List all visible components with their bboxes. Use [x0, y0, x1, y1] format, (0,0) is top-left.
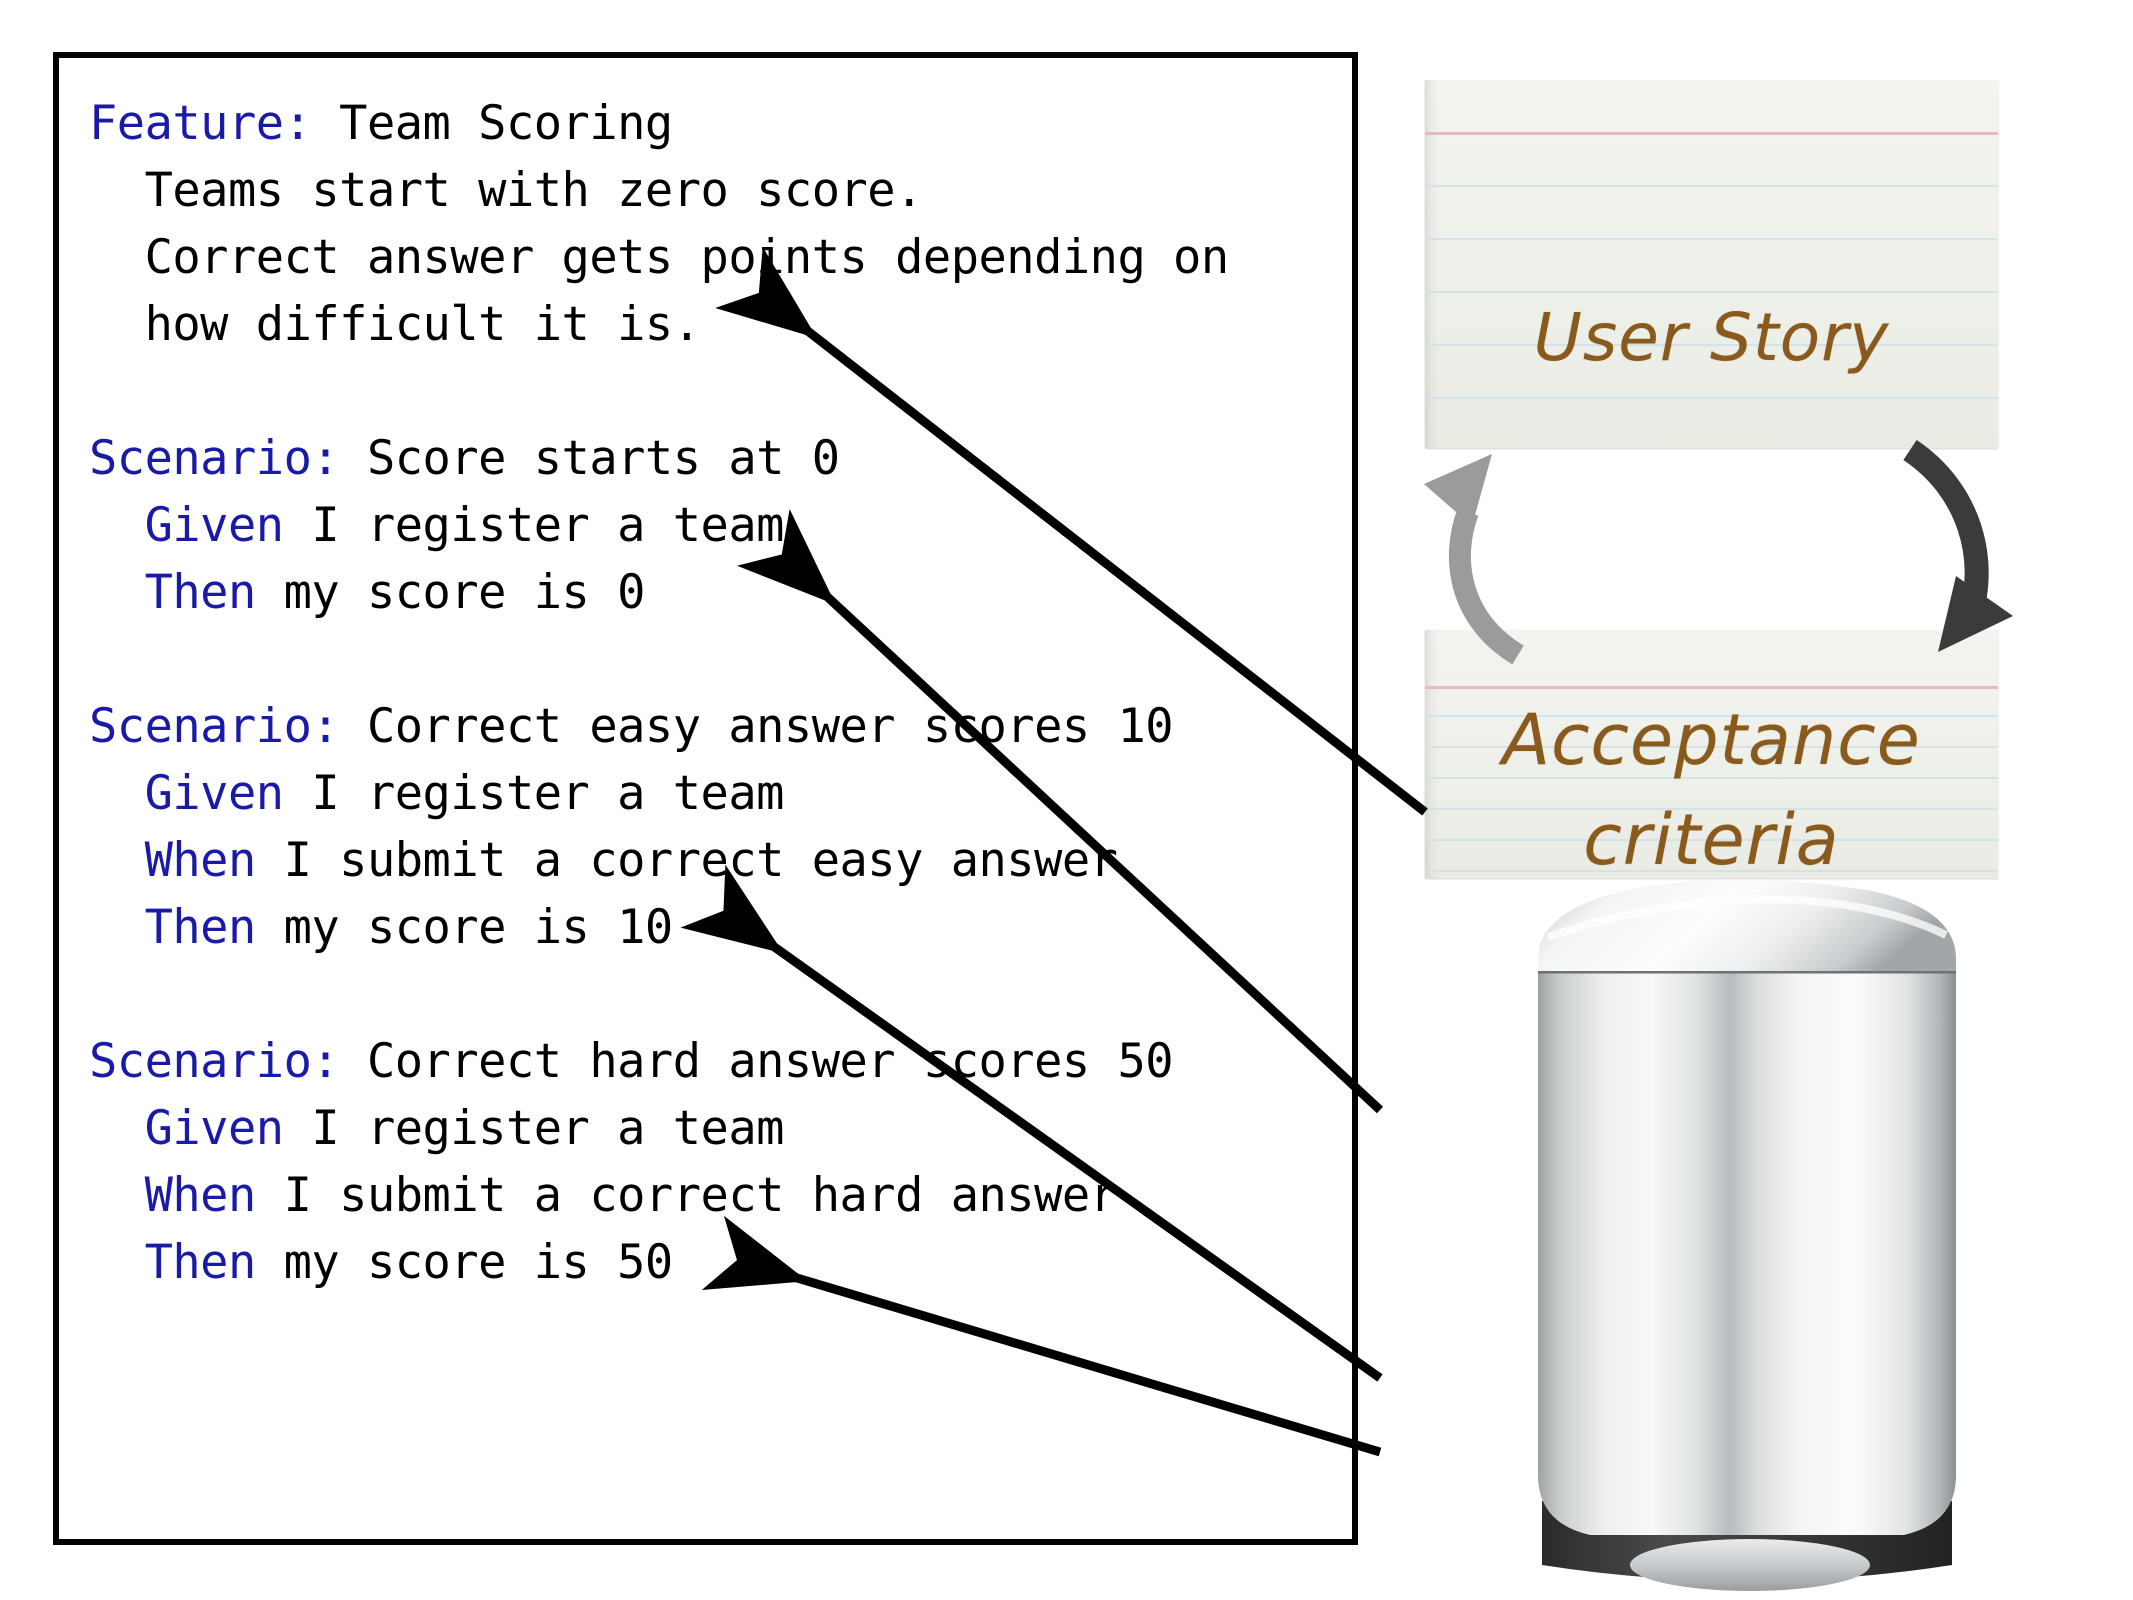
- gherkin-line: Given I register a team: [89, 760, 1342, 827]
- gherkin-text-span: Score starts at 0: [339, 431, 839, 486]
- cycle-arrow-left-head-icon: [1424, 454, 1492, 526]
- trash-can-foot-pedal[interactable]: [1630, 1539, 1870, 1591]
- gherkin-blank-line: [89, 358, 1342, 425]
- gherkin-keyword: When: [89, 833, 256, 888]
- gherkin-keyword: Given: [89, 1101, 284, 1156]
- gherkin-line: Teams start with zero score.: [89, 157, 1342, 224]
- gherkin-keyword: Given: [89, 498, 284, 553]
- cycle-arrow-right-shaft: [1910, 450, 1977, 616]
- gherkin-line: Given I register a team: [89, 492, 1342, 559]
- gherkin-line: Scenario: Score starts at 0: [89, 425, 1342, 492]
- gherkin-line: Correct answer gets points depending on: [89, 224, 1342, 291]
- slide-canvas: Feature: Team Scoring Teams start with z…: [0, 0, 2133, 1600]
- gherkin-line: Then my score is 50: [89, 1229, 1342, 1296]
- gherkin-text-span: Correct easy answer scores 10: [339, 699, 1173, 754]
- gherkin-blank-line: [89, 626, 1342, 693]
- trash-can-lid[interactable]: [1538, 879, 1956, 971]
- gherkin-text-span: I register a team: [284, 1101, 784, 1156]
- gherkin-keyword: Then: [89, 1235, 256, 1290]
- gherkin-line: Scenario: Correct easy answer scores 10: [89, 693, 1342, 760]
- gherkin-line: Then my score is 0: [89, 559, 1342, 626]
- gherkin-line: Then my score is 10: [89, 894, 1342, 961]
- acceptance-criteria-card[interactable]: Acceptance criteria: [1425, 630, 1998, 878]
- gherkin-keyword: Then: [89, 565, 256, 620]
- gherkin-text: Feature: Team Scoring Teams start with z…: [89, 90, 1342, 1296]
- gherkin-line: When I submit a correct hard answer: [89, 1162, 1342, 1229]
- gherkin-keyword: Scenario:: [89, 1034, 339, 1089]
- gherkin-keyword: Scenario:: [89, 431, 339, 486]
- user-story-card-label: User Story: [1425, 302, 1998, 374]
- gherkin-text-span: my score is 50: [256, 1235, 673, 1290]
- gherkin-keyword: Then: [89, 900, 256, 955]
- gherkin-line: Given I register a team: [89, 1095, 1342, 1162]
- gherkin-line: Feature: Team Scoring: [89, 90, 1342, 157]
- card-rule-lines: [1425, 80, 1998, 448]
- gherkin-blank-line: [89, 961, 1342, 1028]
- gherkin-text-span: I register a team: [284, 498, 784, 553]
- user-story-card[interactable]: User Story: [1425, 80, 1998, 448]
- gherkin-text-span: how difficult it is.: [89, 297, 701, 352]
- trash-can-body: [1538, 967, 1956, 1535]
- gherkin-text-span: my score is 10: [256, 900, 673, 955]
- gherkin-text-span: Correct answer gets points depending on: [89, 230, 1229, 285]
- gherkin-text-span: I register a team: [284, 766, 784, 821]
- gherkin-keyword: Given: [89, 766, 284, 821]
- gherkin-keyword: Feature:: [89, 96, 311, 151]
- gherkin-line: how difficult it is.: [89, 291, 1342, 358]
- gherkin-text-span: I submit a correct hard answer: [256, 1168, 1118, 1223]
- feature-file-box: Feature: Team Scoring Teams start with z…: [53, 52, 1358, 1545]
- acceptance-criteria-card-label-line1: Acceptance: [1425, 690, 1998, 790]
- gherkin-line: Scenario: Correct hard answer scores 50: [89, 1028, 1342, 1095]
- gherkin-keyword: Scenario:: [89, 699, 339, 754]
- trash-can[interactable]: [1512, 875, 1982, 1597]
- gherkin-text-span: my score is 0: [256, 565, 645, 620]
- gherkin-line: When I submit a correct easy answer: [89, 827, 1342, 894]
- acceptance-criteria-card-label-line2: criteria: [1425, 790, 1998, 878]
- gherkin-text-span: Correct hard answer scores 50: [339, 1034, 1173, 1089]
- gherkin-text-span: Teams start with zero score.: [89, 163, 923, 218]
- gherkin-keyword: When: [89, 1168, 256, 1223]
- gherkin-text-span: Team Scoring: [311, 96, 672, 151]
- gherkin-text-span: I submit a correct easy answer: [256, 833, 1118, 888]
